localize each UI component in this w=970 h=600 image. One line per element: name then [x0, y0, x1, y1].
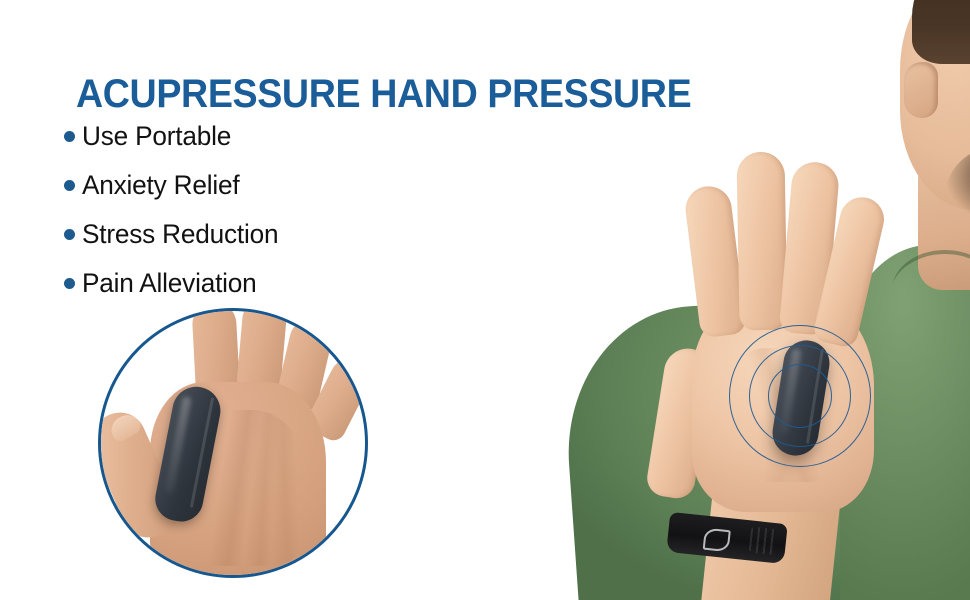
feature-list: Use Portable Anxiety Relief Stress Reduc…: [64, 112, 284, 308]
page-title: ACUPRESSURE HAND PRESSURE: [76, 71, 691, 117]
middle-finger: [736, 152, 787, 331]
ear: [904, 62, 938, 118]
bullet-dot-icon: [64, 180, 75, 191]
list-item: Use Portable: [64, 112, 284, 161]
left-margin: [0, 0, 36, 600]
feature-label: Use Portable: [82, 121, 231, 152]
strap-buckle-icon: [703, 528, 731, 553]
product-banner: ACUPRESSURE HAND PRESSURE Use Portable A…: [0, 0, 970, 600]
feature-label: Stress Reduction: [82, 219, 278, 250]
bullet-dot-icon: [64, 131, 75, 142]
list-item: Pain Alleviation: [64, 259, 284, 308]
feature-label: Anxiety Relief: [82, 170, 239, 201]
bullet-dot-icon: [64, 278, 75, 289]
feature-label: Pain Alleviation: [82, 268, 257, 299]
hair: [912, 0, 970, 64]
hand-closeup-photo: [98, 308, 368, 578]
list-item: Anxiety Relief: [64, 161, 284, 210]
hand-closeup-circle: [98, 308, 368, 578]
bullet-dot-icon: [64, 229, 75, 240]
strap-stitching: [749, 526, 780, 555]
list-item: Stress Reduction: [64, 210, 284, 259]
